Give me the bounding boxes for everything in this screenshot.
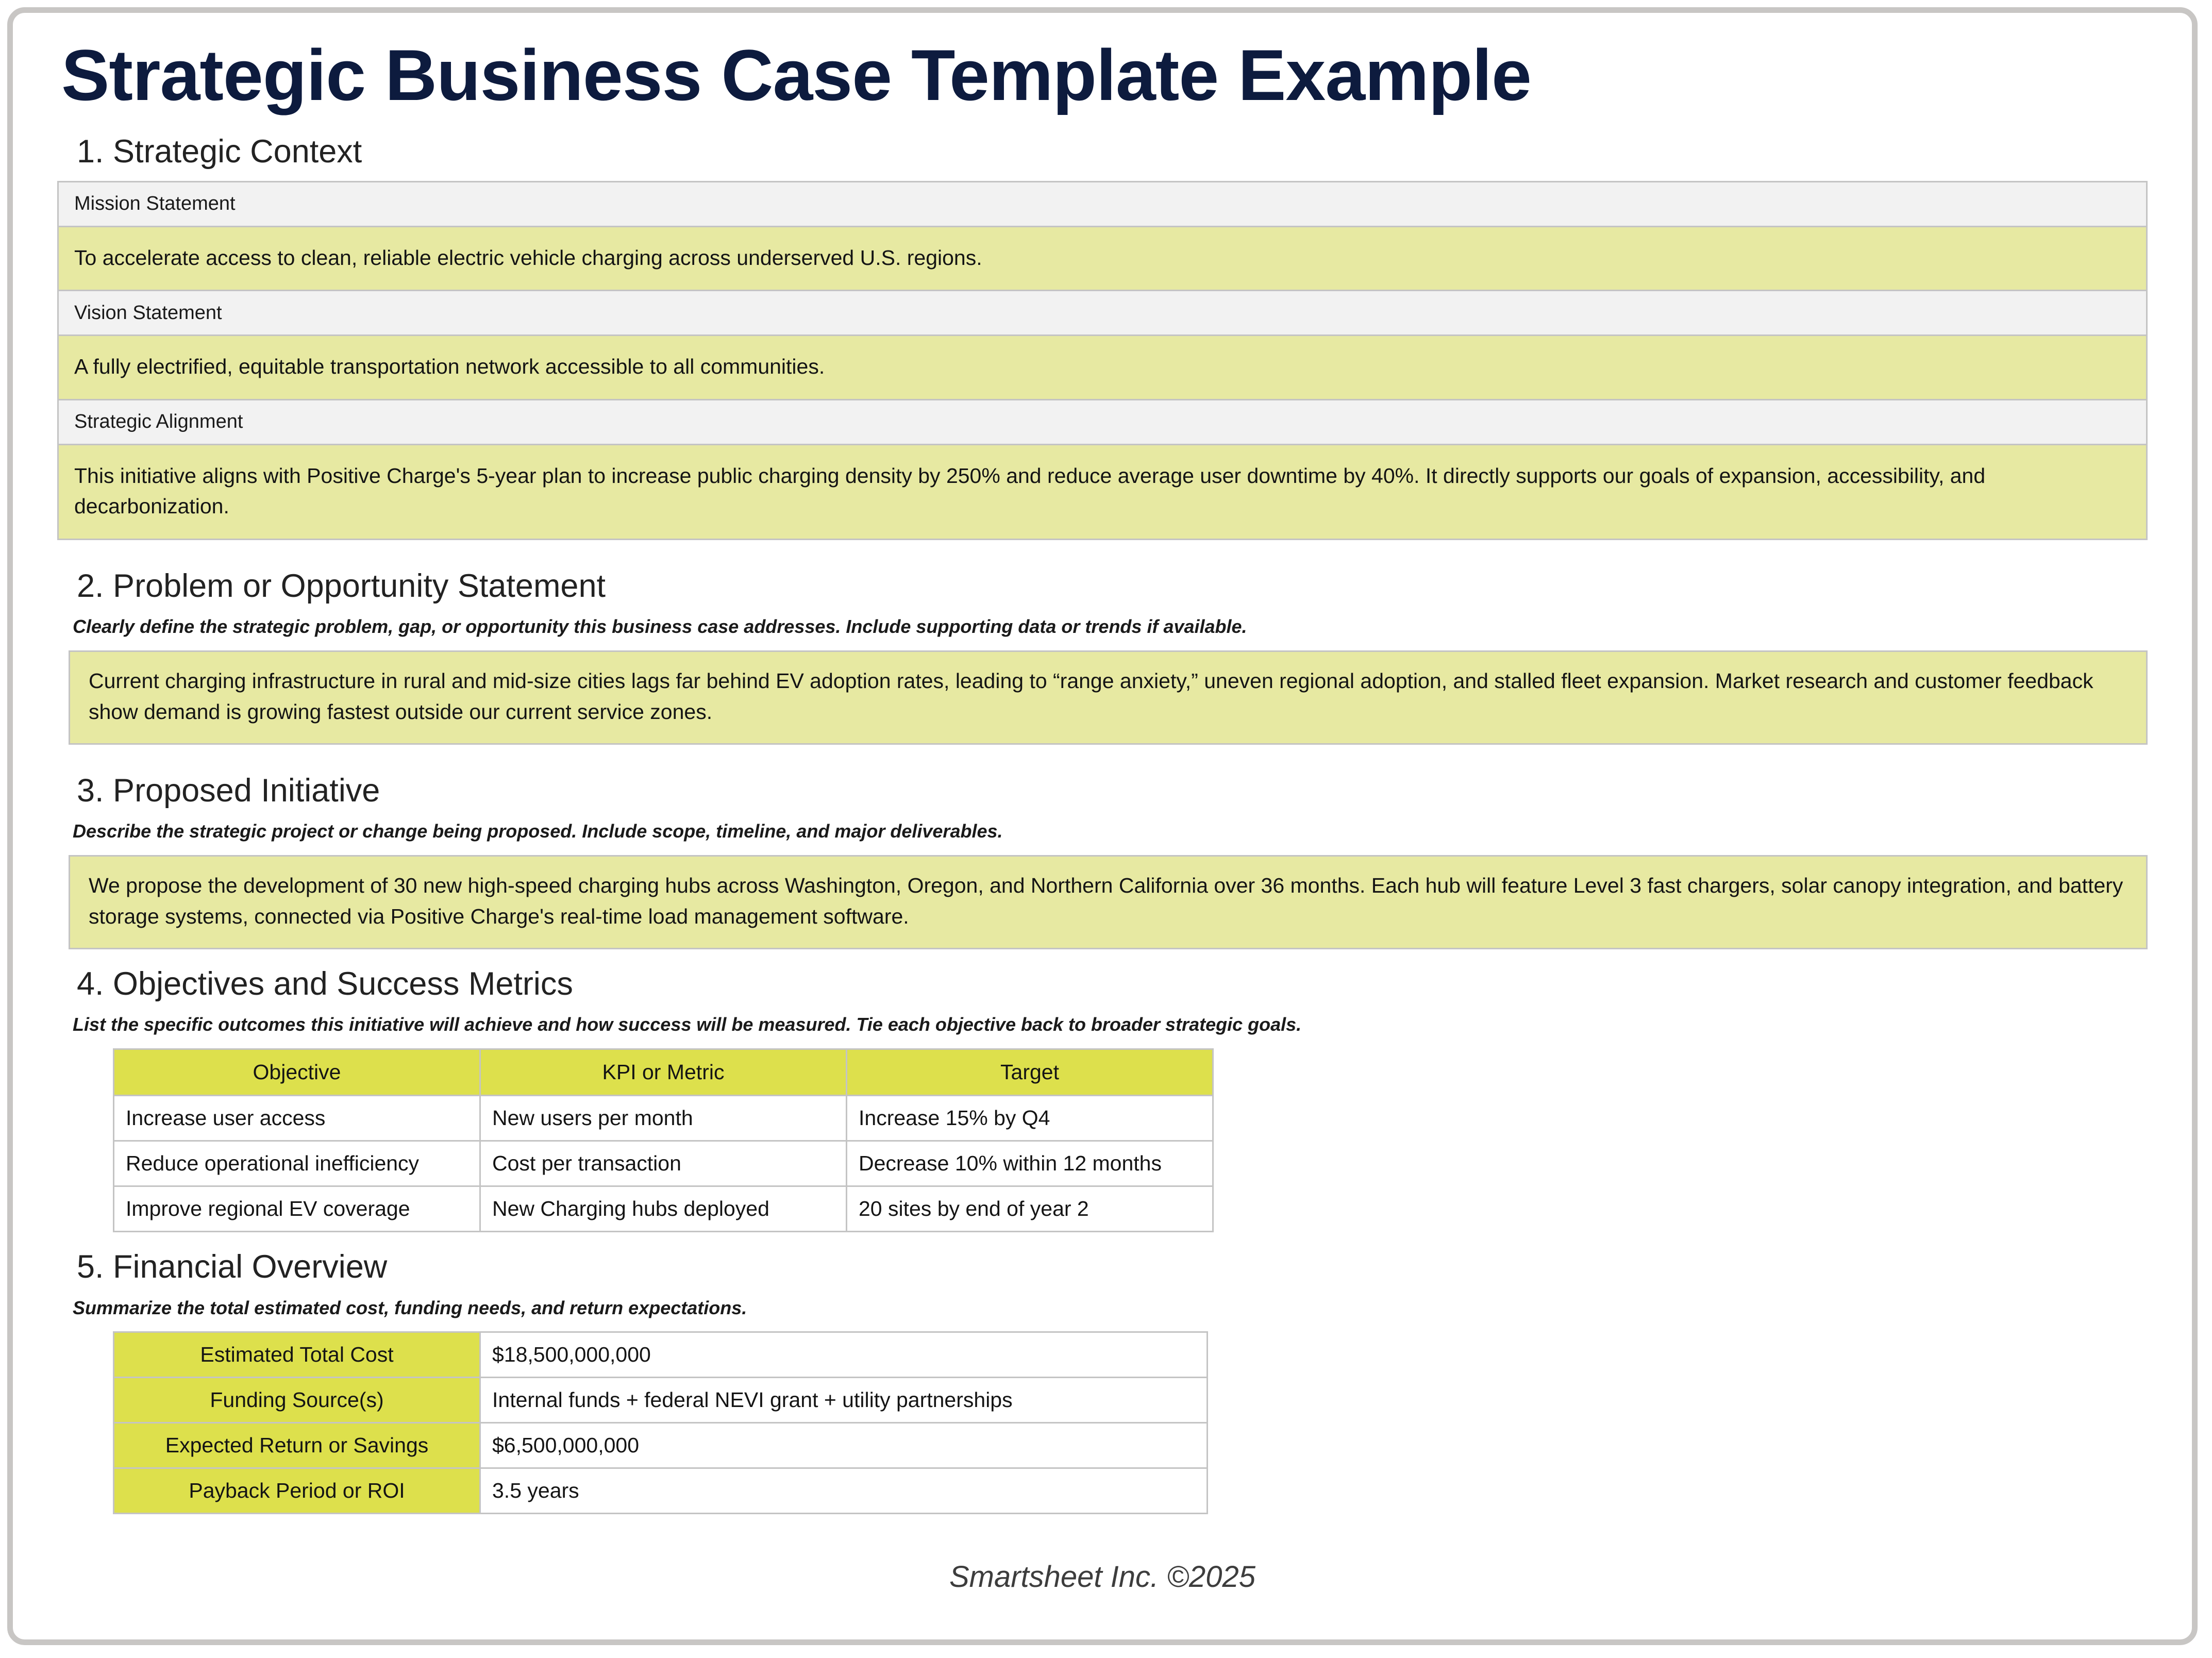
proposed-initiative-instruction: Describe the strategic project or change…	[73, 819, 2148, 844]
table-row: Vision Statement	[58, 291, 2147, 336]
table-row: Improve regional EV coverage New Chargin…	[114, 1186, 1213, 1231]
alignment-value[interactable]: This initiative aligns with Positive Cha…	[58, 444, 2147, 539]
page-title: Strategic Business Case Template Example	[61, 34, 2148, 117]
financial-key: Estimated Total Cost	[114, 1332, 480, 1378]
table-row: This initiative aligns with Positive Cha…	[58, 444, 2147, 539]
kpi-cell[interactable]: New users per month	[480, 1095, 847, 1141]
problem-statement-body[interactable]: Current charging infrastructure in rural…	[69, 650, 2148, 745]
page-content: Strategic Business Case Template Example…	[13, 13, 2192, 1639]
financial-overview-instruction: Summarize the total estimated cost, fund…	[73, 1296, 2148, 1320]
target-cell[interactable]: 20 sites by end of year 2	[847, 1186, 1213, 1231]
financial-key: Payback Period or ROI	[114, 1468, 480, 1514]
table-row: Funding Source(s) Internal funds + feder…	[114, 1378, 1208, 1423]
column-header-target: Target	[847, 1049, 1213, 1095]
table-row: Expected Return or Savings $6,500,000,00…	[114, 1423, 1208, 1468]
problem-statement-instruction: Clearly define the strategic problem, ga…	[73, 615, 2148, 639]
table-row: Reduce operational inefficiency Cost per…	[114, 1141, 1213, 1186]
column-header-objective: Objective	[114, 1049, 480, 1095]
section-heading-objectives: 4. Objectives and Success Metrics	[77, 965, 2148, 1004]
objective-cell[interactable]: Reduce operational inefficiency	[114, 1141, 480, 1186]
kpi-cell[interactable]: New Charging hubs deployed	[480, 1186, 847, 1231]
objectives-instruction: List the specific outcomes this initiati…	[73, 1013, 2148, 1037]
financial-value[interactable]: 3.5 years	[480, 1468, 1208, 1514]
table-row: Estimated Total Cost $18,500,000,000	[114, 1332, 1208, 1378]
target-cell[interactable]: Increase 15% by Q4	[847, 1095, 1213, 1141]
section-heading-financial-overview: 5. Financial Overview	[77, 1248, 2148, 1287]
financial-key: Expected Return or Savings	[114, 1423, 480, 1468]
table-row: To accelerate access to clean, reliable …	[58, 226, 2147, 290]
financial-value[interactable]: $6,500,000,000	[480, 1423, 1208, 1468]
objective-cell[interactable]: Increase user access	[114, 1095, 480, 1141]
objectives-table: Objective KPI or Metric Target Increase …	[113, 1048, 1214, 1232]
financial-overview-table: Estimated Total Cost $18,500,000,000 Fun…	[113, 1331, 1208, 1514]
financial-value[interactable]: Internal funds + federal NEVI grant + ut…	[480, 1378, 1208, 1423]
table-row: A fully electrified, equitable transport…	[58, 336, 2147, 399]
objective-cell[interactable]: Improve regional EV coverage	[114, 1186, 480, 1231]
table-header-row: Objective KPI or Metric Target	[114, 1049, 1213, 1095]
footer-copyright: Smartsheet Inc. ©2025	[13, 1560, 2192, 1594]
mission-value[interactable]: To accelerate access to clean, reliable …	[58, 226, 2147, 290]
column-header-kpi: KPI or Metric	[480, 1049, 847, 1095]
kpi-cell[interactable]: Cost per transaction	[480, 1141, 847, 1186]
financial-value[interactable]: $18,500,000,000	[480, 1332, 1208, 1378]
mission-label: Mission Statement	[58, 181, 2147, 226]
section-heading-problem-statement: 2. Problem or Opportunity Statement	[77, 567, 2148, 606]
vision-label: Vision Statement	[58, 291, 2147, 336]
vision-value[interactable]: A fully electrified, equitable transport…	[58, 336, 2147, 399]
table-row: Increase user access New users per month…	[114, 1095, 1213, 1141]
table-row: Payback Period or ROI 3.5 years	[114, 1468, 1208, 1514]
section-heading-strategic-context: 1. Strategic Context	[77, 132, 2148, 172]
proposed-initiative-body[interactable]: We propose the development of 30 new hig…	[69, 855, 2148, 949]
financial-key: Funding Source(s)	[114, 1378, 480, 1423]
section-heading-proposed-initiative: 3. Proposed Initiative	[77, 772, 2148, 811]
target-cell[interactable]: Decrease 10% within 12 months	[847, 1141, 1213, 1186]
strategic-context-table: Mission Statement To accelerate access t…	[57, 181, 2148, 540]
table-row: Strategic Alignment	[58, 399, 2147, 444]
alignment-label: Strategic Alignment	[58, 399, 2147, 444]
table-row: Mission Statement	[58, 181, 2147, 226]
page-frame: Strategic Business Case Template Example…	[7, 7, 2198, 1645]
